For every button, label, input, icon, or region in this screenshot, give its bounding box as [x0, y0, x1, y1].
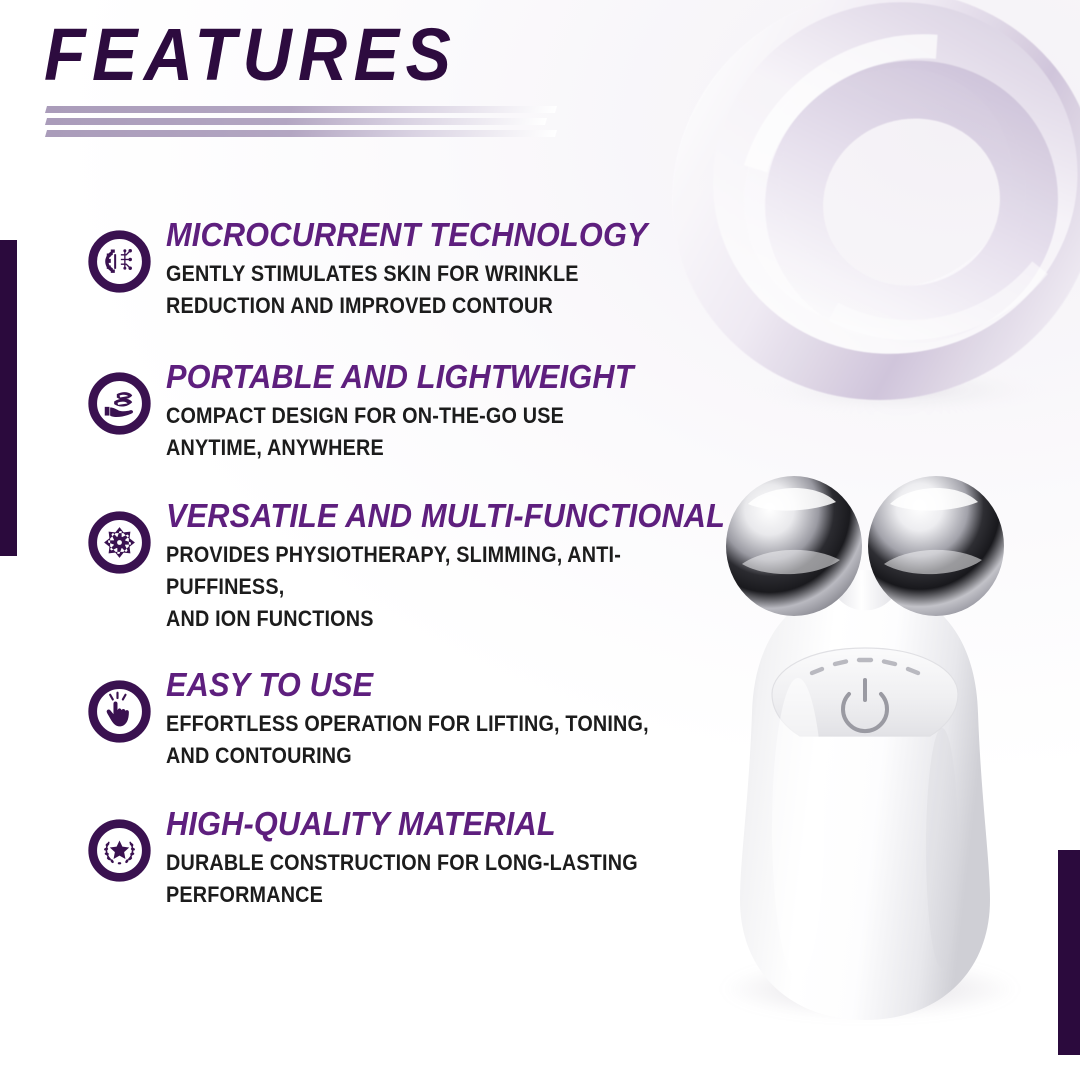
feature-item: HIGH-QUALITY MATERIAL DURABLE CONSTRUCTI… [86, 805, 726, 911]
feature-description: PROVIDES PHYSIOTHERAPY, SLIMMING, ANTI-P… [166, 539, 695, 635]
microcurrent-facial-toning-device [690, 468, 1040, 1028]
feature-item: PORTABLE AND LIGHTWEIGHT COMPACT DESIGN … [86, 358, 726, 464]
title-rule-3 [45, 130, 557, 137]
feature-heading: MICROCURRENT TECHNOLOGY [166, 218, 687, 253]
feature-description: EFFORTLESS OPERATION FOR LIFTING, TONING… [166, 708, 659, 772]
feature-text: EASY TO USE EFFORTLESS OPERATION FOR LIF… [166, 666, 726, 772]
title-block: FEATURES [44, 18, 664, 142]
title-rule-1 [45, 106, 557, 113]
feature-heading: HIGH-QUALITY MATERIAL [166, 807, 687, 842]
hand-holding-leaves-icon [86, 370, 153, 437]
feature-text: MICROCURRENT TECHNOLOGY GENTLY STIMULATE… [166, 216, 726, 322]
feature-item: VERSATILE AND MULTI-FUNCTIONAL PROVIDES … [86, 497, 726, 635]
title-rule-2 [45, 118, 547, 125]
feature-text: HIGH-QUALITY MATERIAL DURABLE CONSTRUCTI… [166, 805, 726, 911]
right-accent-bar [1058, 850, 1080, 1055]
left-accent-bar [0, 240, 17, 556]
multi-directional-arrows-icon [86, 509, 153, 576]
feature-text: VERSATILE AND MULTI-FUNCTIONAL PROVIDES … [166, 497, 767, 635]
page-title: FEATURES [44, 18, 614, 92]
feature-item: MICROCURRENT TECHNOLOGY GENTLY STIMULATE… [86, 216, 726, 322]
star-laurel-wreath-icon [86, 817, 153, 884]
title-underline-rules [46, 106, 556, 137]
feature-heading: EASY TO USE [166, 668, 687, 703]
infographic-canvas: FEATURES [0, 0, 1080, 1080]
microcurrent-gear-circuit-icon [86, 228, 153, 295]
feature-heading: PORTABLE AND LIGHTWEIGHT [166, 360, 687, 395]
feature-list: MICROCURRENT TECHNOLOGY GENTLY STIMULATE… [86, 216, 726, 911]
feature-heading: VERSATILE AND MULTI-FUNCTIONAL [166, 499, 725, 534]
tapping-hand-icon [86, 678, 153, 745]
feature-text: PORTABLE AND LIGHTWEIGHT COMPACT DESIGN … [166, 358, 726, 464]
feature-item: EASY TO USE EFFORTLESS OPERATION FOR LIF… [86, 666, 726, 772]
feature-description: COMPACT DESIGN FOR ON-THE-GO USE ANYTIME… [166, 400, 659, 464]
feature-description: DURABLE CONSTRUCTION FOR LONG-LASTING PE… [166, 847, 659, 911]
feature-description: GENTLY STIMULATES SKIN FOR WRINKLE REDUC… [166, 258, 659, 322]
